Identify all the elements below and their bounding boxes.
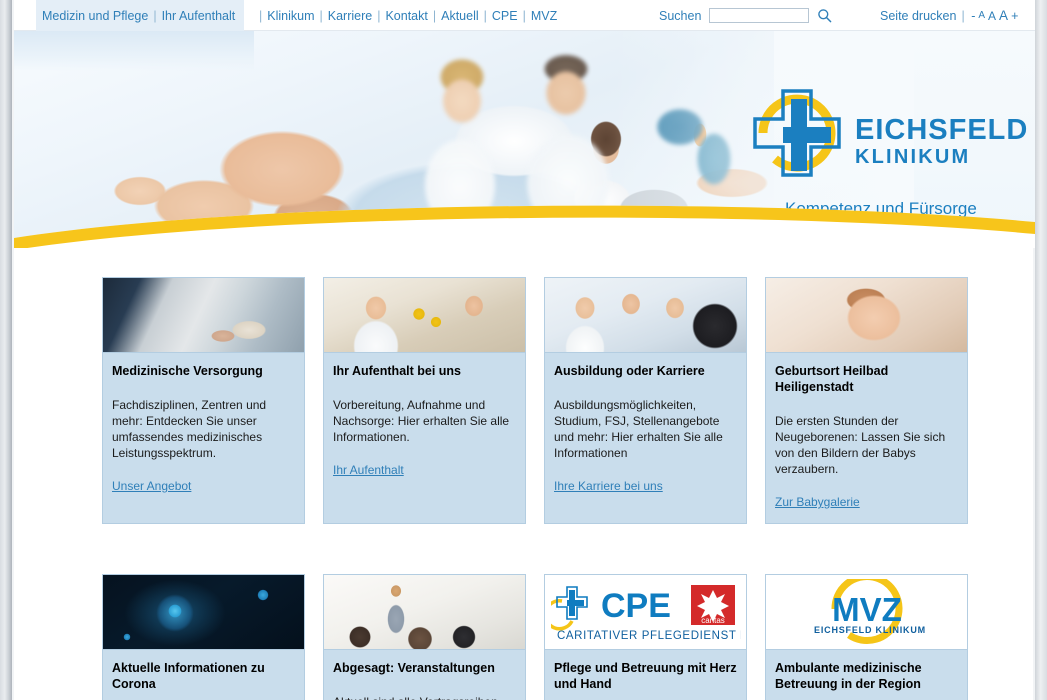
- card-pflege-und-betreuung[interactable]: CPE caritas CARITATIVER PFLEGEDIENST EIC…: [544, 574, 747, 700]
- print-page-link[interactable]: Seite drucken: [880, 9, 956, 23]
- card-text: Ausbildungsmöglichkeiten, Studium, FSJ, …: [554, 397, 737, 461]
- svg-text:caritas: caritas: [701, 616, 725, 625]
- cross-logo-icon: [747, 83, 847, 183]
- card-title: Geburtsort Heilbad Heiligenstadt: [775, 363, 958, 395]
- nav-separator: |: [518, 9, 531, 23]
- card-grid: Medizinische Versorgung Fachdisziplinen,…: [102, 277, 970, 700]
- search-label: Suchen: [659, 9, 701, 23]
- nav-item-ihr-aufenthalt[interactable]: Ihr Aufenthalt: [162, 9, 236, 23]
- card-title: Abgesagt: Veranstaltungen: [333, 660, 516, 676]
- card-text: Die ersten Stunden der Neugeborenen: Las…: [775, 413, 958, 477]
- card-thumbnail-newborn: [766, 278, 967, 353]
- card-thumbnail-flowers: [324, 278, 525, 353]
- nav-separator: |: [372, 9, 385, 23]
- card-thumbnail-cpe-logo: CPE caritas CARITATIVER PFLEGEDIENST EIC…: [545, 575, 746, 650]
- cpe-logo-icon: CPE caritas CARITATIVER PFLEGEDIENST EIC…: [551, 579, 741, 645]
- logo-line-2: KLINIKUM: [855, 145, 1028, 169]
- card-text: Aktuell sind alle Vortragsreihen, Verans…: [333, 694, 516, 700]
- card-thumbnail-lecture: [324, 575, 525, 650]
- card-row-1: Medizinische Versorgung Fachdisziplinen,…: [102, 277, 970, 524]
- card-aktuelle-informationen-zu-corona[interactable]: Aktuelle Informationen zu Corona Keine B…: [102, 574, 305, 700]
- card-thumbnail-mri: [103, 278, 304, 353]
- primary-nav: Medizin und Pflege | Ihr Aufenthalt: [42, 0, 235, 31]
- card-ihr-aufenthalt-bei-uns[interactable]: Ihr Aufenthalt bei uns Vorbereitung, Auf…: [323, 277, 526, 524]
- card-text: Vorbereitung, Aufnahme und Nachsorge: Hi…: [333, 397, 516, 445]
- card-body: Medizinische Versorgung Fachdisziplinen,…: [103, 353, 304, 507]
- card-title: Pflege und Betreuung mit Herz und Hand: [554, 660, 737, 692]
- nav-separator: |: [479, 9, 492, 23]
- nav-separator: |: [428, 9, 441, 23]
- card-link-unser-angebot[interactable]: Unser Angebot: [112, 479, 191, 493]
- font-size-medium-button[interactable]: A: [987, 9, 998, 23]
- mvz-logo-icon: MVZ EICHSFELD KLINIKUM: [792, 579, 942, 645]
- logo-wordmark: EICHSFELD KLINIKUM: [855, 115, 1028, 169]
- card-link-zur-babygalerie[interactable]: Zur Babygalerie: [775, 495, 860, 509]
- nav-item-klinikum[interactable]: Klinikum: [267, 9, 314, 23]
- nav-item-mvz[interactable]: MVZ: [531, 9, 557, 23]
- svg-text:CPE: CPE: [601, 587, 671, 625]
- card-ambulante-medizinische-betreuung[interactable]: MVZ EICHSFELD KLINIKUM Ambulante medizin…: [765, 574, 968, 700]
- font-decrease-button[interactable]: -: [970, 9, 977, 23]
- card-body: Ihr Aufenthalt bei uns Vorbereitung, Auf…: [324, 353, 525, 491]
- card-title: Ihr Aufenthalt bei uns: [333, 363, 516, 379]
- card-abgesagt-veranstaltungen[interactable]: Abgesagt: Veranstaltungen Aktuell sind a…: [323, 574, 526, 700]
- font-increase-button[interactable]: +: [1010, 9, 1020, 23]
- hero-top-left-tint: [14, 31, 254, 71]
- svg-text:EICHSFELD KLINIKUM: EICHSFELD KLINIKUM: [814, 625, 926, 635]
- card-medizinische-versorgung[interactable]: Medizinische Versorgung Fachdisziplinen,…: [102, 277, 305, 524]
- card-link-ihr-aufenthalt[interactable]: Ihr Aufenthalt: [333, 463, 404, 477]
- card-body: Ausbildung oder Karriere Ausbildungsmögl…: [545, 353, 746, 507]
- nav-item-cpe[interactable]: CPE: [492, 9, 518, 23]
- svg-text:MVZ: MVZ: [832, 591, 902, 628]
- card-row-2: Aktuelle Informationen zu Corona Keine B…: [102, 574, 970, 700]
- window-left-gutter: [0, 0, 12, 700]
- secondary-nav: | Klinikum | Karriere | Kontakt | Aktuel…: [254, 0, 557, 31]
- font-size-small-button[interactable]: A: [977, 10, 987, 21]
- font-size-large-button[interactable]: A: [998, 8, 1010, 23]
- nav-item-karriere[interactable]: Karriere: [328, 9, 372, 23]
- logo-line-1: EICHSFELD: [855, 115, 1028, 145]
- search-icon[interactable]: [817, 8, 832, 23]
- top-utility-bar: Medizin und Pflege | Ihr Aufenthalt | Kl…: [14, 0, 1035, 31]
- card-body: Geburtsort Heilbad Heiligenstadt Die ers…: [766, 353, 967, 523]
- svg-text:CARITATIVER PFLEGEDIENST EICHS: CARITATIVER PFLEGEDIENST EICHSFELD: [557, 630, 741, 642]
- nav-separator-lead: |: [254, 9, 267, 23]
- card-thumbnail-staff-group: [545, 278, 746, 353]
- print-and-fontsize-area: Seite drucken | - A A A +: [880, 0, 1020, 31]
- yellow-wave-divider: [14, 196, 1035, 248]
- search-input[interactable]: [709, 8, 809, 23]
- card-body: Abgesagt: Veranstaltungen Aktuell sind a…: [324, 650, 525, 700]
- nav-separator: |: [315, 9, 328, 23]
- card-body: Aktuelle Informationen zu Corona Keine B…: [103, 650, 304, 700]
- card-ausbildung-oder-karriere[interactable]: Ausbildung oder Karriere Ausbildungsmögl…: [544, 277, 747, 524]
- card-title: Medizinische Versorgung: [112, 363, 295, 379]
- card-link-ihre-karriere-bei-uns[interactable]: Ihre Karriere bei uns: [554, 479, 663, 493]
- search-area: Suchen: [659, 0, 832, 31]
- card-thumbnail-coronavirus: [103, 575, 304, 650]
- card-body: Pflege und Betreuung mit Herz und Hand P…: [545, 650, 746, 700]
- print-separator: |: [956, 9, 969, 23]
- card-title: Ambulante medizinische Betreuung in der …: [775, 660, 958, 692]
- card-thumbnail-mvz-logo: MVZ EICHSFELD KLINIKUM: [766, 575, 967, 650]
- card-title: Aktuelle Informationen zu Corona: [112, 660, 295, 692]
- nav-item-aktuell[interactable]: Aktuell: [441, 9, 479, 23]
- card-text: Fachdisziplinen, Zentren und mehr: Entde…: [112, 397, 295, 461]
- card-body: Ambulante medizinische Betreuung in der …: [766, 650, 967, 700]
- card-title: Ausbildung oder Karriere: [554, 363, 737, 379]
- nav-separator: |: [148, 9, 161, 23]
- card-geburtsort-heilbad-heiligenstadt[interactable]: Geburtsort Heilbad Heiligenstadt Die ers…: [765, 277, 968, 524]
- page-root: Medizin und Pflege | Ihr Aufenthalt | Kl…: [0, 0, 1047, 700]
- window-right-scrollbar[interactable]: [1035, 0, 1047, 700]
- nav-item-medizin-und-pflege[interactable]: Medizin und Pflege: [42, 9, 148, 23]
- nav-item-kontakt[interactable]: Kontakt: [385, 9, 427, 23]
